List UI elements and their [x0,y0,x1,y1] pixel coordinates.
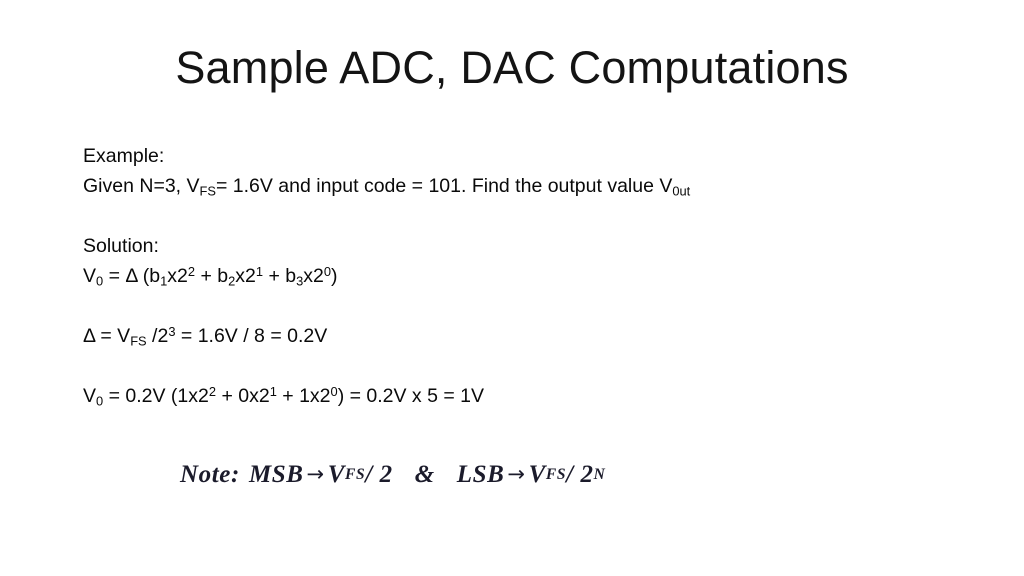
lsb-label: LSB [457,461,505,489]
note-label: Note [180,461,231,489]
ampersand-separator: & [415,461,435,489]
note-equation: Note:MSB→VFS/ 2&LSB→VFS/ 2N [180,455,640,495]
result-term3-exponent: 0 [331,384,338,399]
result-plus-1: + 0x2 [216,385,270,407]
body-spacer-2 [83,291,963,321]
note-colon: : [231,461,240,489]
msb-label: MSB [249,461,304,489]
msb-divisor: / 2 [365,461,393,489]
result-term2-exponent: 1 [270,384,277,399]
body-spacer-1 [83,201,963,231]
delta-lead: Δ = V [83,325,130,347]
given-text-part1: Given N=3, V [83,175,200,197]
term2-exponent: 1 [256,264,263,279]
given-line: Given N=3, VFS= 1.6V and input code = 10… [83,171,963,201]
closing-paren: ) [331,265,338,287]
delta-vfs-subscript: FS [130,334,146,349]
v0-result-line: V0 = 0.2V (1x22 + 0x21 + 1x20) = 0.2V x … [83,381,963,411]
term3-base: x2 [303,265,324,287]
v0-result-eq: = 0.2V (1x2 [103,385,209,407]
term2-base: x2 [235,265,256,287]
result-term1-exponent: 2 [209,384,216,399]
example-label: Example: [83,141,963,171]
result-plus-2: + 1x2 [277,385,331,407]
given-text-part2: = 1.6V and input code = 101. Find the ou… [216,175,672,197]
v0-result-symbol: V [83,385,96,407]
solution-label: Solution: [83,231,963,261]
body-spacer-3 [83,351,963,381]
slide-body: Example: Given N=3, VFS= 1.6V and input … [83,141,963,411]
result-tail: ) = 0.2V x 5 = 1V [338,385,484,407]
given-subscript-fs: FS [200,184,216,199]
page-title: Sample ADC, DAC Computations [0,42,1024,94]
term1-exponent: 2 [188,264,195,279]
arrow-right-icon-lsb: → [504,462,528,486]
v0-eq-delta: = Δ (b [103,265,160,287]
v0-symbol: V [83,265,96,287]
v0-formula-line: V0 = Δ (b1x22 + b2x21 + b3x20) [83,261,963,291]
given-subscript-out: 0ut [672,184,690,199]
plus-b3: + b [263,265,296,287]
delta-divisor-base: /2 [147,325,169,347]
arrow-right-icon-msb: → [304,462,328,486]
delta-result: = 1.6V / 8 = 0.2V [175,325,327,347]
msb-v-symbol: V [328,461,345,489]
plus-b2: + b [195,265,228,287]
term3-exponent: 0 [324,264,331,279]
delta-formula-line: Δ = VFS /23 = 1.6V / 8 = 0.2V [83,321,963,351]
lsb-divisor: / 2 [566,461,594,489]
lsb-v-symbol: V [529,461,546,489]
term1-base: x2 [167,265,188,287]
